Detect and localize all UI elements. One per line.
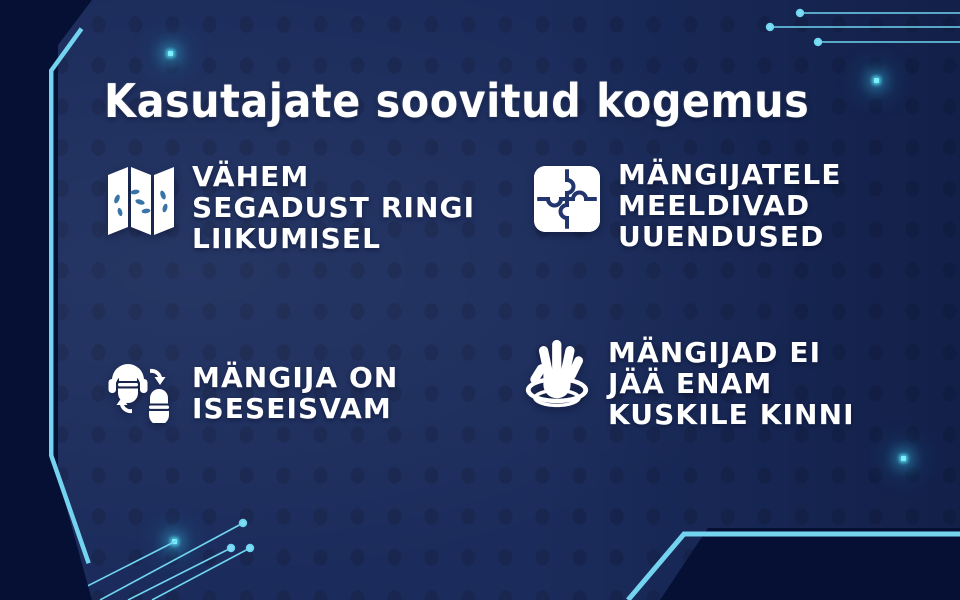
feature-item: MÄNGIJATELE MEELDIVAD UUENDUSED <box>530 158 842 252</box>
folded-map-icon <box>104 160 178 242</box>
feature-item: MÄNGIJAD EI JÄÄ ENAM KUSKILE KINNI <box>520 336 855 430</box>
avatar-headset-swap-icon <box>104 352 178 426</box>
feature-item: VÄHEM SEGADUST RINGI LIIKUMISEL <box>104 160 475 254</box>
page-title: Kasutajate soovitud kogemus <box>104 76 809 126</box>
hand-stuck-in-water-icon <box>520 336 594 410</box>
feature-label: VÄHEM SEGADUST RINGI LIIKUMISEL <box>192 160 475 254</box>
feature-label: MÄNGIJATELE MEELDIVAD UUENDUSED <box>618 158 842 252</box>
puzzle-pieces-icon <box>530 158 604 240</box>
feature-label: MÄNGIJA ON ISESEISVAM <box>192 352 398 424</box>
feature-label: MÄNGIJAD EI JÄÄ ENAM KUSKILE KINNI <box>608 336 855 430</box>
feature-item: MÄNGIJA ON ISESEISVAM <box>104 352 398 426</box>
slide-content: Kasutajate soovitud kogemus <box>0 0 960 600</box>
slide-canvas: Kasutajate soovitud kogemus <box>0 0 960 600</box>
